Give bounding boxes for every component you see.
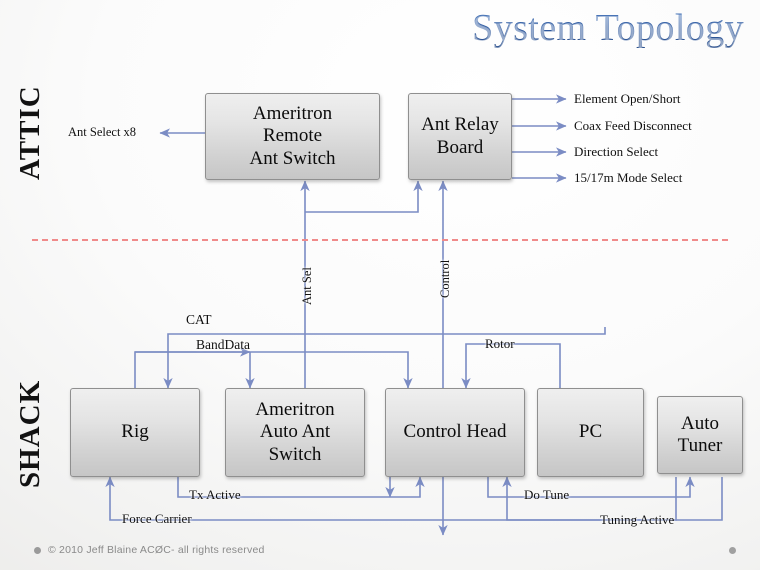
copyright-text: © 2010 Jeff Blaine ACØC- all rights rese…: [48, 544, 265, 556]
label-direction-select: Direction Select: [574, 144, 658, 160]
bullet-icon: [34, 547, 41, 554]
label-do-tune: Do Tune: [524, 487, 569, 503]
corner-dot-icon: [729, 547, 736, 554]
label-control: Control: [438, 260, 453, 298]
connector-layer: [0, 0, 760, 570]
footer: © 2010 Jeff Blaine ACØC- all rights rese…: [34, 544, 265, 556]
label-ant-sel: Ant Sel: [300, 267, 315, 305]
node-ant-relay-board[interactable]: Ant Relay Board: [408, 93, 512, 180]
slide-canvas: System Topology ATTIC SHACK: [0, 0, 760, 570]
node-remote-ant-switch[interactable]: Ameritron Remote Ant Switch: [205, 93, 380, 180]
label-rotor: Rotor: [485, 336, 515, 352]
label-cat: CAT: [186, 312, 212, 328]
label-coax-feed-disconnect: Coax Feed Disconnect: [574, 118, 692, 134]
node-control-head[interactable]: Control Head: [385, 388, 525, 477]
label-ant-select: Ant Select x8: [68, 125, 136, 140]
node-pc[interactable]: PC: [537, 388, 644, 477]
label-tx-active: Tx Active: [189, 487, 241, 503]
label-mode-select: 15/17m Mode Select: [574, 170, 682, 186]
attic-shack-divider: [32, 239, 728, 241]
node-rig[interactable]: Rig: [70, 388, 200, 477]
label-force-carrier: Force Carrier: [122, 511, 192, 527]
node-auto-ant-switch[interactable]: Ameritron Auto Ant Switch: [225, 388, 365, 477]
label-band-data: BandData: [196, 337, 250, 353]
node-auto-tuner[interactable]: Auto Tuner: [657, 396, 743, 474]
label-tuning-active: Tuning Active: [600, 512, 674, 528]
label-element-open-short: Element Open/Short: [574, 91, 681, 107]
